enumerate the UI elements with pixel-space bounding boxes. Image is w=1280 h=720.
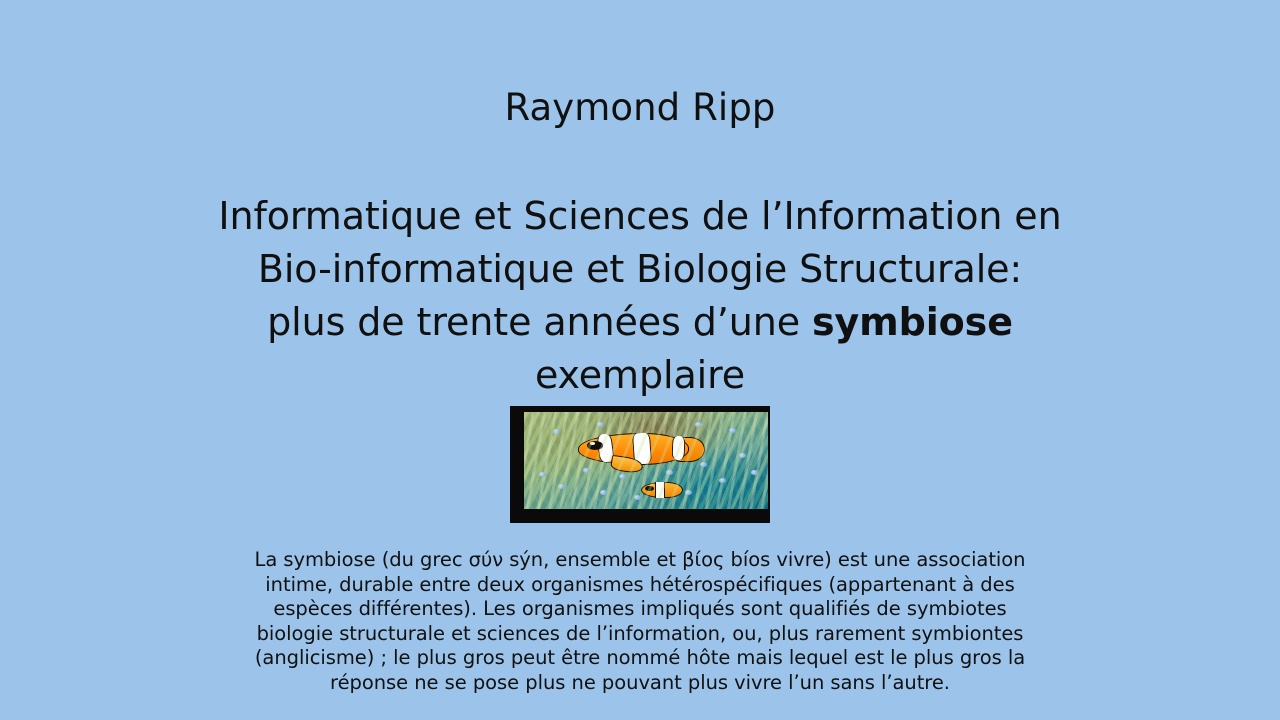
tentacle-tip-icon [558,484,565,489]
tentacle-tip-icon [695,422,702,427]
tentacle-tip-icon [685,490,692,495]
paragraph-line: réponse ne se pose plus ne pouvant plus … [150,671,1130,696]
title-line-1: Informatique et Sciences de l’Informatio… [140,190,1140,243]
tentacle-tip-icon [597,422,604,427]
clownfish-large-icon [578,431,705,466]
paragraph-line: espèces différentes). Les organismes imp… [150,597,1130,622]
title-line-3: plus de trente années d’une symbiose [140,296,1140,349]
clownfish-band [671,436,685,461]
presentation-slide: Raymond Ripp Informatique et Sciences de… [0,0,1280,720]
author-name: Raymond Ripp [0,85,1280,131]
paragraph-line: (anglicisme) ; le plus gros peut être no… [150,646,1130,671]
paragraph-line: biologie structurale et sciences de l’in… [150,622,1130,647]
tentacle-tip-icon [539,472,546,477]
definition-paragraph: La symbiose (du grec σύν sýn, ensemble e… [150,548,1130,695]
title-line-4: exemplaire [140,349,1140,402]
tentacle-tip-icon [583,468,590,473]
clownfish-anemone-image [510,406,770,523]
paragraph-line: La symbiose (du grec σύν sýn, ensemble e… [150,548,1130,573]
title-line-2: Bio-informatique et Biologie Structurale… [140,243,1140,296]
clownfish-small-band [655,482,665,498]
clownfish-small-icon [641,482,682,498]
tentacle-tip-icon [729,428,736,433]
paragraph-line: intime, durable entre deux organismes hé… [150,573,1130,598]
title-emphasis-symbiose: symbiose [812,300,1013,344]
tentacle-tip-icon [739,453,746,458]
tentacle-tip-icon [600,490,607,495]
photo-canvas [524,412,768,509]
tentacle-tip-icon [666,470,673,475]
title-line-3-prefix: plus de trente années d’une [267,300,812,344]
clownfish-eye [587,441,603,449]
slide-title: Informatique et Sciences de l’Informatio… [140,190,1140,402]
